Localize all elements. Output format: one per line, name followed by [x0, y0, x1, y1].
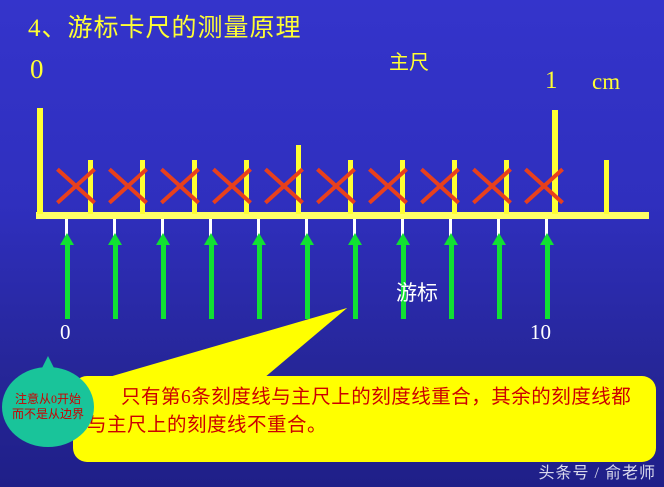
vernier-arrow-icon — [60, 233, 74, 319]
vernier-zero-label: 0 — [60, 322, 71, 343]
mismatch-x-icon — [365, 163, 411, 209]
vernier-arrow-icon — [300, 233, 314, 319]
mismatch-x-icon — [53, 163, 99, 209]
mismatch-x-icon — [261, 163, 307, 209]
mismatch-x-icon — [157, 163, 203, 209]
mismatch-x-icon — [417, 163, 463, 209]
watermark: 头条号 / 俞老师 — [539, 459, 656, 483]
vernier-arrow-icon — [444, 233, 458, 319]
mismatch-x-icon — [209, 163, 255, 209]
mismatch-x-icon — [521, 163, 567, 209]
vernier-arrow-icon — [492, 233, 506, 319]
main-scale-tick — [604, 160, 609, 214]
note-bubble: 注意从0开始而不是从边界 — [2, 367, 94, 447]
vernier-ten-label: 10 — [530, 322, 551, 343]
main-scale-tick-0 — [37, 108, 43, 214]
mismatch-x-icon — [469, 163, 515, 209]
vernier-arrow-icon — [156, 233, 170, 319]
vernier-arrow-icon — [396, 233, 410, 319]
vernier-scale-label: 游标 — [396, 283, 438, 304]
mismatch-x-icon — [105, 163, 151, 209]
note-bubble-text: 注意从0开始而不是从边界 — [10, 392, 86, 423]
callout-box: 只有第6条刻度线与主尺上的刻度线重合，其余的刻度线都与主尺上的刻度线不重合。 — [73, 376, 656, 462]
slide-canvas: 4、游标卡尺的测量原理 0 主尺 1 cm — [0, 0, 664, 487]
mismatch-x-icon — [313, 163, 359, 209]
vernier-arrow-icon — [348, 233, 362, 319]
vernier-arrow-icon — [204, 233, 218, 319]
vernier-arrow-icon — [540, 233, 554, 319]
vernier-arrow-icon — [108, 233, 122, 319]
callout-text: 只有第6条刻度线与主尺上的刻度线重合，其余的刻度线都与主尺上的刻度线不重合。 — [87, 384, 642, 441]
vernier-arrow-icon — [252, 233, 266, 319]
